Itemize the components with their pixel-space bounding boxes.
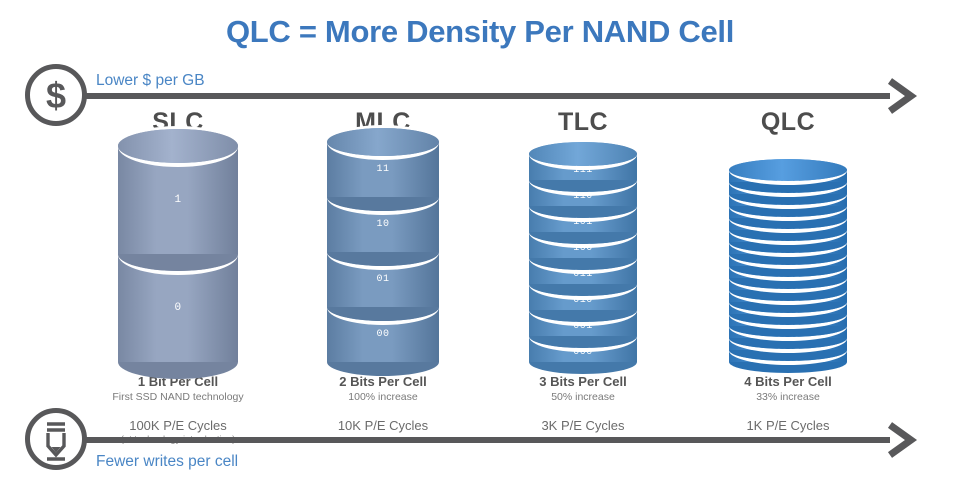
bottom-arrow-line — [70, 437, 890, 443]
fewer-writes-label: Fewer writes per cell — [96, 453, 238, 471]
svg-text:$: $ — [46, 75, 66, 116]
column-mlc: MLC111001002 Bits Per Cell100% increase — [283, 108, 483, 403]
cell-stack-wrapper: 10 — [78, 140, 278, 368]
cell-stack-top-cap — [327, 128, 439, 156]
column-tlc: TLC1111101011000110100010003 Bits Per Ce… — [483, 108, 683, 403]
column-subcaption: First SSD NAND technology — [78, 391, 278, 403]
cell-stack-wrapper: 1111111011011100101110101001100001110110… — [688, 140, 888, 368]
cell-stack-top-cap — [118, 129, 238, 163]
cell-stack: 111110101100011010001000 — [529, 142, 637, 368]
cell-stack-wrapper: 111110101100011010001000 — [483, 140, 683, 368]
top-arrow-head-icon — [884, 78, 918, 114]
bottom-arrow-head-icon — [884, 422, 918, 458]
column-caption: 3 Bits Per Cell — [483, 374, 683, 389]
cell-stack: 1111111011011100101110101001100001110110… — [729, 159, 847, 368]
column-caption: 2 Bits Per Cell — [283, 374, 483, 389]
dollar-circle-icon: $ — [25, 64, 87, 126]
page-title: QLC = More Density Per NAND Cell — [0, 14, 960, 50]
nand-cell-columns: SLC101 Bit Per CellFirst SSD NAND techno… — [0, 108, 960, 408]
column-slc: SLC101 Bit Per CellFirst SSD NAND techno… — [78, 108, 278, 403]
column-subcaption: 50% increase — [483, 391, 683, 403]
cell-stack: 10 — [118, 129, 238, 368]
cell-stack-top-cap — [729, 159, 847, 181]
top-arrow-line — [70, 93, 890, 99]
pencil-circle-icon — [25, 408, 87, 470]
cell-stack-top-cap — [529, 142, 637, 166]
column-subcaption: 33% increase — [688, 391, 888, 403]
infographic-canvas: QLC = More Density Per NAND Cell $ Lower… — [0, 0, 960, 491]
bottom-arrow-row: Fewer writes per cell — [0, 408, 960, 472]
column-heading: QLC — [688, 108, 888, 140]
column-qlc: QLC1111111011011100101110101001100001110… — [688, 108, 888, 403]
lower-cost-label: Lower $ per GB — [96, 72, 205, 90]
cell-stack: 11100100 — [327, 128, 439, 368]
column-subcaption: 100% increase — [283, 391, 483, 403]
column-heading: TLC — [483, 108, 683, 140]
cell-stack-wrapper: 11100100 — [283, 140, 483, 368]
column-caption: 4 Bits Per Cell — [688, 374, 888, 389]
